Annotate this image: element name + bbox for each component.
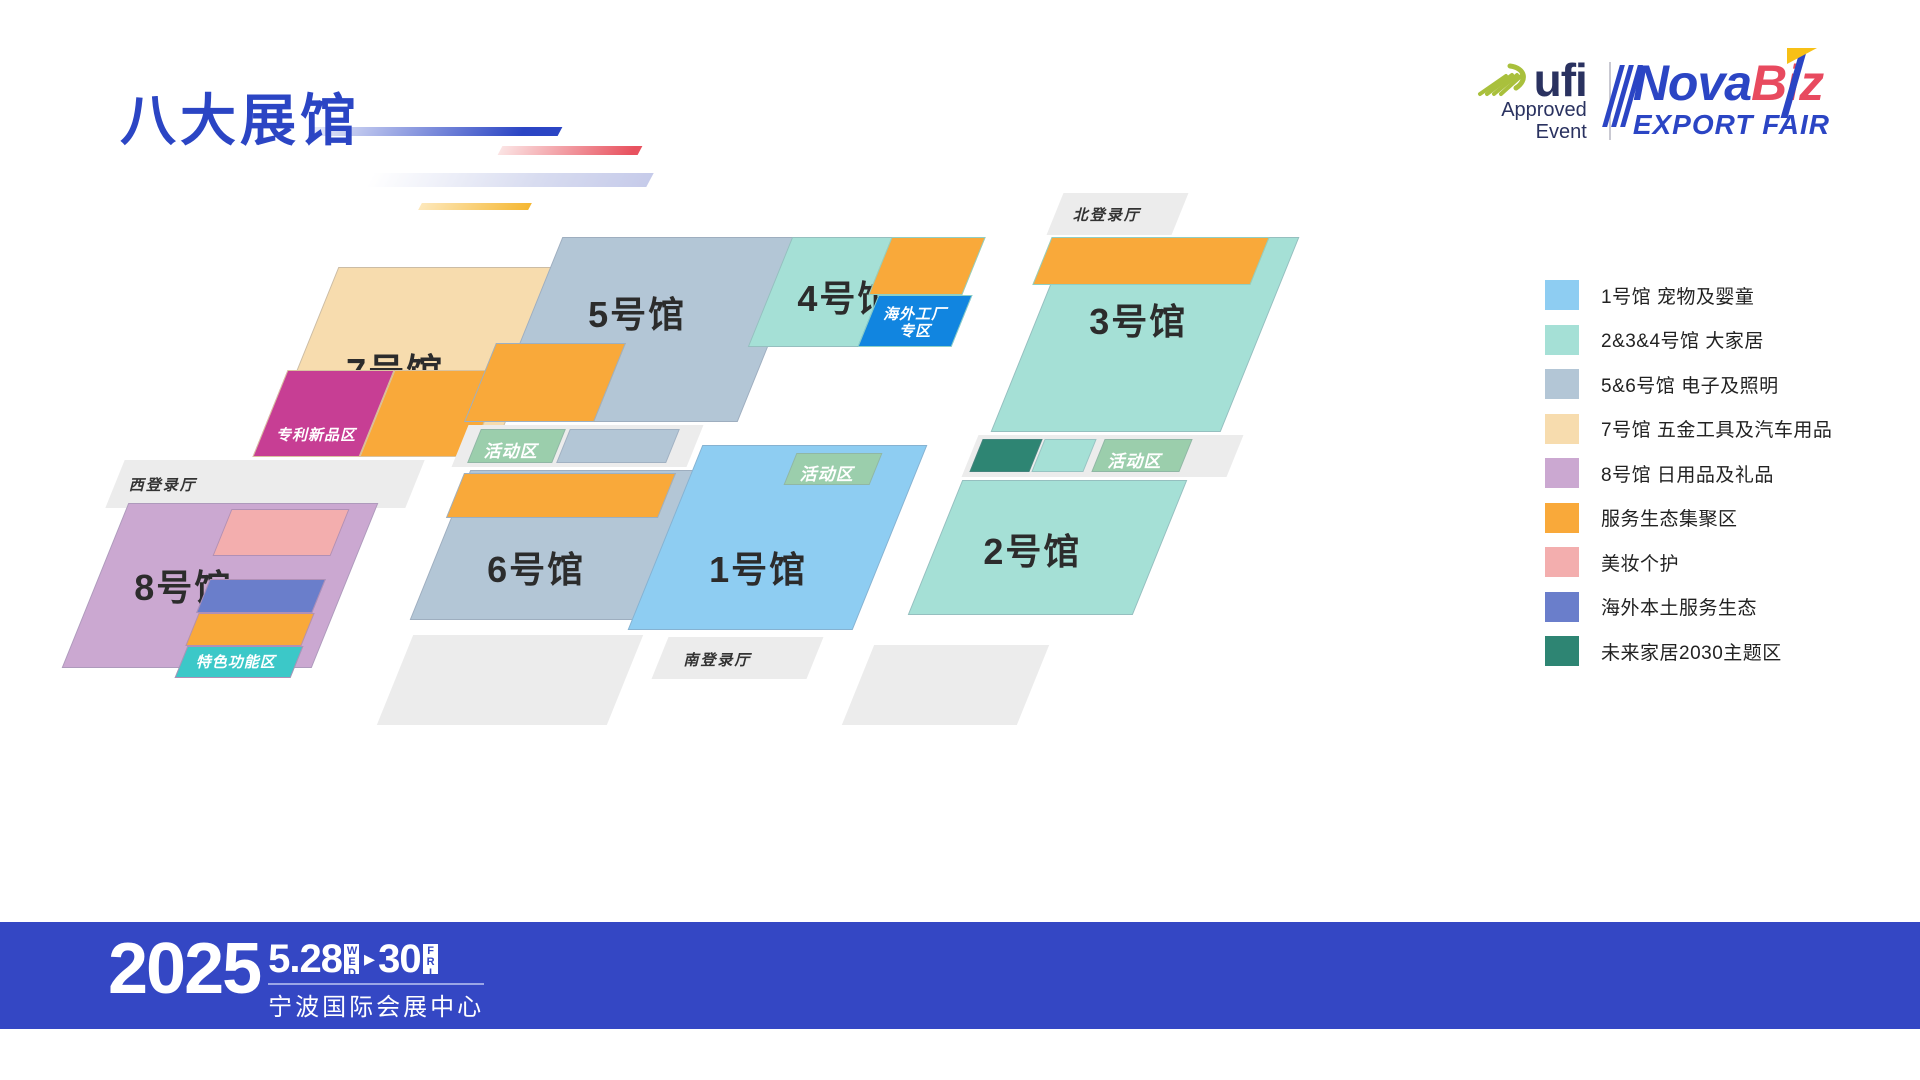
ufi-approved-line2: Event xyxy=(1536,122,1587,144)
legend-item: 5&6号馆 电子及照明 xyxy=(1545,369,1905,399)
legend-swatch xyxy=(1545,414,1579,444)
activity-zone-hall1-label: 活动区 xyxy=(800,460,854,485)
legend-label: 1号馆 宠物及婴童 xyxy=(1601,282,1754,309)
event-day-end: FRI xyxy=(423,944,438,974)
event-date-start: 5.28 xyxy=(268,939,342,979)
floorplan-page: 八大展馆 ufi Approved Event Nova Biz xyxy=(0,0,1920,1080)
novabiz-logo: Nova Biz EXPORT FAIR xyxy=(1633,60,1830,141)
entrance-south[interactable]: 南登录厅 xyxy=(652,637,824,679)
entrance-north[interactable]: 北登录厅 xyxy=(1047,193,1189,235)
date-range-arrow-icon: ▸ xyxy=(364,946,375,972)
hall-1-label: 1号馆 xyxy=(709,541,807,593)
title-accent-red xyxy=(498,146,643,155)
legend-swatch xyxy=(1545,325,1579,355)
legend-item: 美妆个护 xyxy=(1545,547,1905,577)
event-venue: 宁波国际会展中心 xyxy=(268,987,484,1022)
legend-label: 未来家居2030主题区 xyxy=(1601,638,1782,665)
activity-zone-hall5[interactable]: 活动区 xyxy=(467,429,566,463)
legend-swatch xyxy=(1545,547,1579,577)
legend-item: 8号馆 日用品及礼品 xyxy=(1545,458,1905,488)
hall-2[interactable]: 2号馆 xyxy=(908,480,1188,615)
hall-6-service-zone[interactable] xyxy=(446,473,676,518)
ghost-area-southwest xyxy=(377,635,643,725)
legend-item: 1号馆 宠物及婴童 xyxy=(1545,280,1905,310)
legend-label: 美妆个护 xyxy=(1601,549,1679,576)
overseas-factory-zone-label: 海外工厂专区 xyxy=(876,306,954,341)
title-accent-gold xyxy=(418,203,532,210)
novabiz-gold-triangle-icon xyxy=(1787,48,1817,64)
patent-zone-label: 专利新品区 xyxy=(276,427,356,444)
legend-item: 未来家居2030主题区 xyxy=(1545,636,1905,666)
novabiz-nova-text: Nova xyxy=(1633,60,1751,108)
overseas-factory-zone[interactable]: 海外工厂专区 xyxy=(857,295,972,347)
legend-swatch xyxy=(1545,503,1579,533)
ufi-approved-line1: Approved xyxy=(1501,100,1587,122)
event-year: 2025 xyxy=(108,936,260,1002)
hall-6-label: 6号馆 xyxy=(487,541,585,593)
legend-item: 7号馆 五金工具及汽车用品 xyxy=(1545,414,1905,444)
ufi-wing-icon xyxy=(1476,58,1532,100)
entrance-west[interactable]: 西登录厅 xyxy=(105,460,424,508)
event-date-block: 2025 5.28 WED ▸ 30 FRI 宁波国际会展中心 xyxy=(108,936,484,1022)
hall-8-service-zone[interactable] xyxy=(185,613,314,646)
legend-swatch xyxy=(1545,592,1579,622)
footer-bar: 2025 5.28 WED ▸ 30 FRI 宁波国际会展中心 xyxy=(0,922,1920,1029)
legend: 1号馆 宠物及婴童 2&3&4号馆 大家居 5&6号馆 电子及照明 7号馆 五金… xyxy=(1545,280,1905,681)
ghost-area-southeast xyxy=(842,645,1049,725)
legend-item: 服务生态集聚区 xyxy=(1545,503,1905,533)
novabiz-tagline: EXPORT FAIR xyxy=(1633,109,1830,141)
legend-label: 8号馆 日用品及礼品 xyxy=(1601,460,1774,487)
beauty-zone-hall8[interactable] xyxy=(213,509,350,556)
overseas-service-zone-hall8[interactable] xyxy=(196,579,326,613)
legend-label: 服务生态集聚区 xyxy=(1601,504,1738,531)
hall-5-label: 5号馆 xyxy=(588,286,686,338)
ufi-logo: ufi Approved Event xyxy=(1476,58,1587,143)
legend-item: 海外本土服务生态 xyxy=(1545,592,1905,622)
legend-swatch xyxy=(1545,458,1579,488)
legend-swatch xyxy=(1545,636,1579,666)
hall-2-label: 2号馆 xyxy=(983,523,1081,575)
date-divider xyxy=(268,983,484,985)
legend-label: 7号馆 五金工具及汽车用品 xyxy=(1601,415,1832,442)
activity-zone-hall3-label: 活动区 xyxy=(1107,447,1161,472)
entrance-south-label: 南登录厅 xyxy=(683,649,751,670)
corridor-block-hall5 xyxy=(556,429,680,463)
hall-3-service-zone[interactable] xyxy=(1032,237,1269,285)
entrance-north-label: 北登录厅 xyxy=(1073,204,1141,225)
special-function-zone[interactable]: 特色功能区 xyxy=(175,646,304,678)
legend-swatch xyxy=(1545,369,1579,399)
legend-label: 2&3&4号馆 大家居 xyxy=(1601,326,1764,353)
legend-swatch xyxy=(1545,280,1579,310)
hall-3-label: 3号馆 xyxy=(1089,293,1187,345)
logo-group: ufi Approved Event Nova Biz EXPORT FAIR xyxy=(1476,58,1830,143)
legend-label: 5&6号馆 电子及照明 xyxy=(1601,371,1779,398)
event-date-end: 30 xyxy=(378,939,421,979)
legend-label: 海外本土服务生态 xyxy=(1601,593,1757,620)
event-day-start: WED xyxy=(344,944,359,974)
page-title: 八大展馆 xyxy=(120,93,360,149)
special-function-zone-label: 特色功能区 xyxy=(196,654,276,671)
exhibition-floorplan: 北登录厅 7号馆 专利新品区 西登录厅 8号馆 特色功能区 5号馆 xyxy=(0,175,1520,915)
activity-zone-hall1[interactable]: 活动区 xyxy=(784,453,883,485)
activity-zone-hall3[interactable]: 活动区 xyxy=(1091,439,1192,472)
page-title-block: 八大展馆 xyxy=(120,55,640,170)
activity-zone-hall5-label: 活动区 xyxy=(484,437,538,462)
entrance-west-label: 西登录厅 xyxy=(129,474,197,495)
legend-item: 2&3&4号馆 大家居 xyxy=(1545,325,1905,355)
ufi-wordmark: ufi xyxy=(1534,61,1587,100)
title-accent-lavender xyxy=(366,173,653,187)
